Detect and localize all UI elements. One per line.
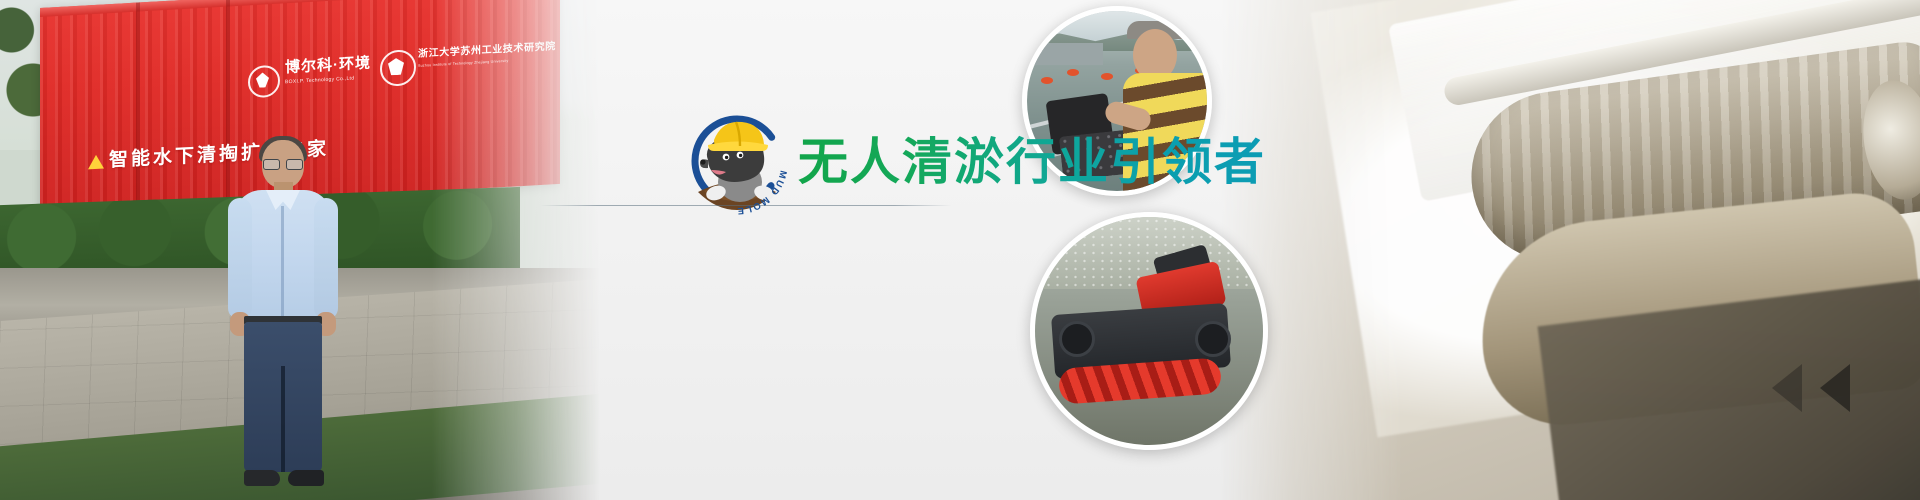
- right-shoe: [288, 470, 324, 486]
- glasses-icon: [263, 159, 303, 168]
- chevron-arrow-icon: [1820, 364, 1850, 412]
- center-content: MUD MOLE 无人清淤行业引领者: [530, 0, 1170, 500]
- left-shoe: [244, 470, 280, 486]
- divider-line: [540, 205, 952, 206]
- shirt-placket: [281, 206, 284, 318]
- container-seam: [136, 2, 140, 207]
- robot-wheel: [1195, 321, 1231, 357]
- company-name: 博尔科·环境: [285, 54, 371, 76]
- triangle-icon: [88, 154, 104, 169]
- right-arm: [314, 198, 338, 320]
- headline: 无人清淤行业引领者: [798, 122, 1266, 194]
- trousers: [244, 322, 322, 472]
- mud-mole-logo: MUD MOLE: [678, 100, 796, 218]
- person-figure: [228, 140, 338, 500]
- hero-banner: 博尔科·环境 BOXI.P. Technology Co.,Ltd 浙江大学苏州…: [0, 0, 1920, 500]
- company-logo-text: 博尔科·环境 BOXI.P. Technology Co.,Ltd: [285, 55, 371, 85]
- right-photo-collage: [1220, 0, 1920, 500]
- left-arm: [228, 198, 252, 320]
- chevron-arrow-icon: [1772, 364, 1802, 412]
- left-photo: 博尔科·环境 BOXI.P. Technology Co.,Ltd 浙江大学苏州…: [0, 0, 600, 500]
